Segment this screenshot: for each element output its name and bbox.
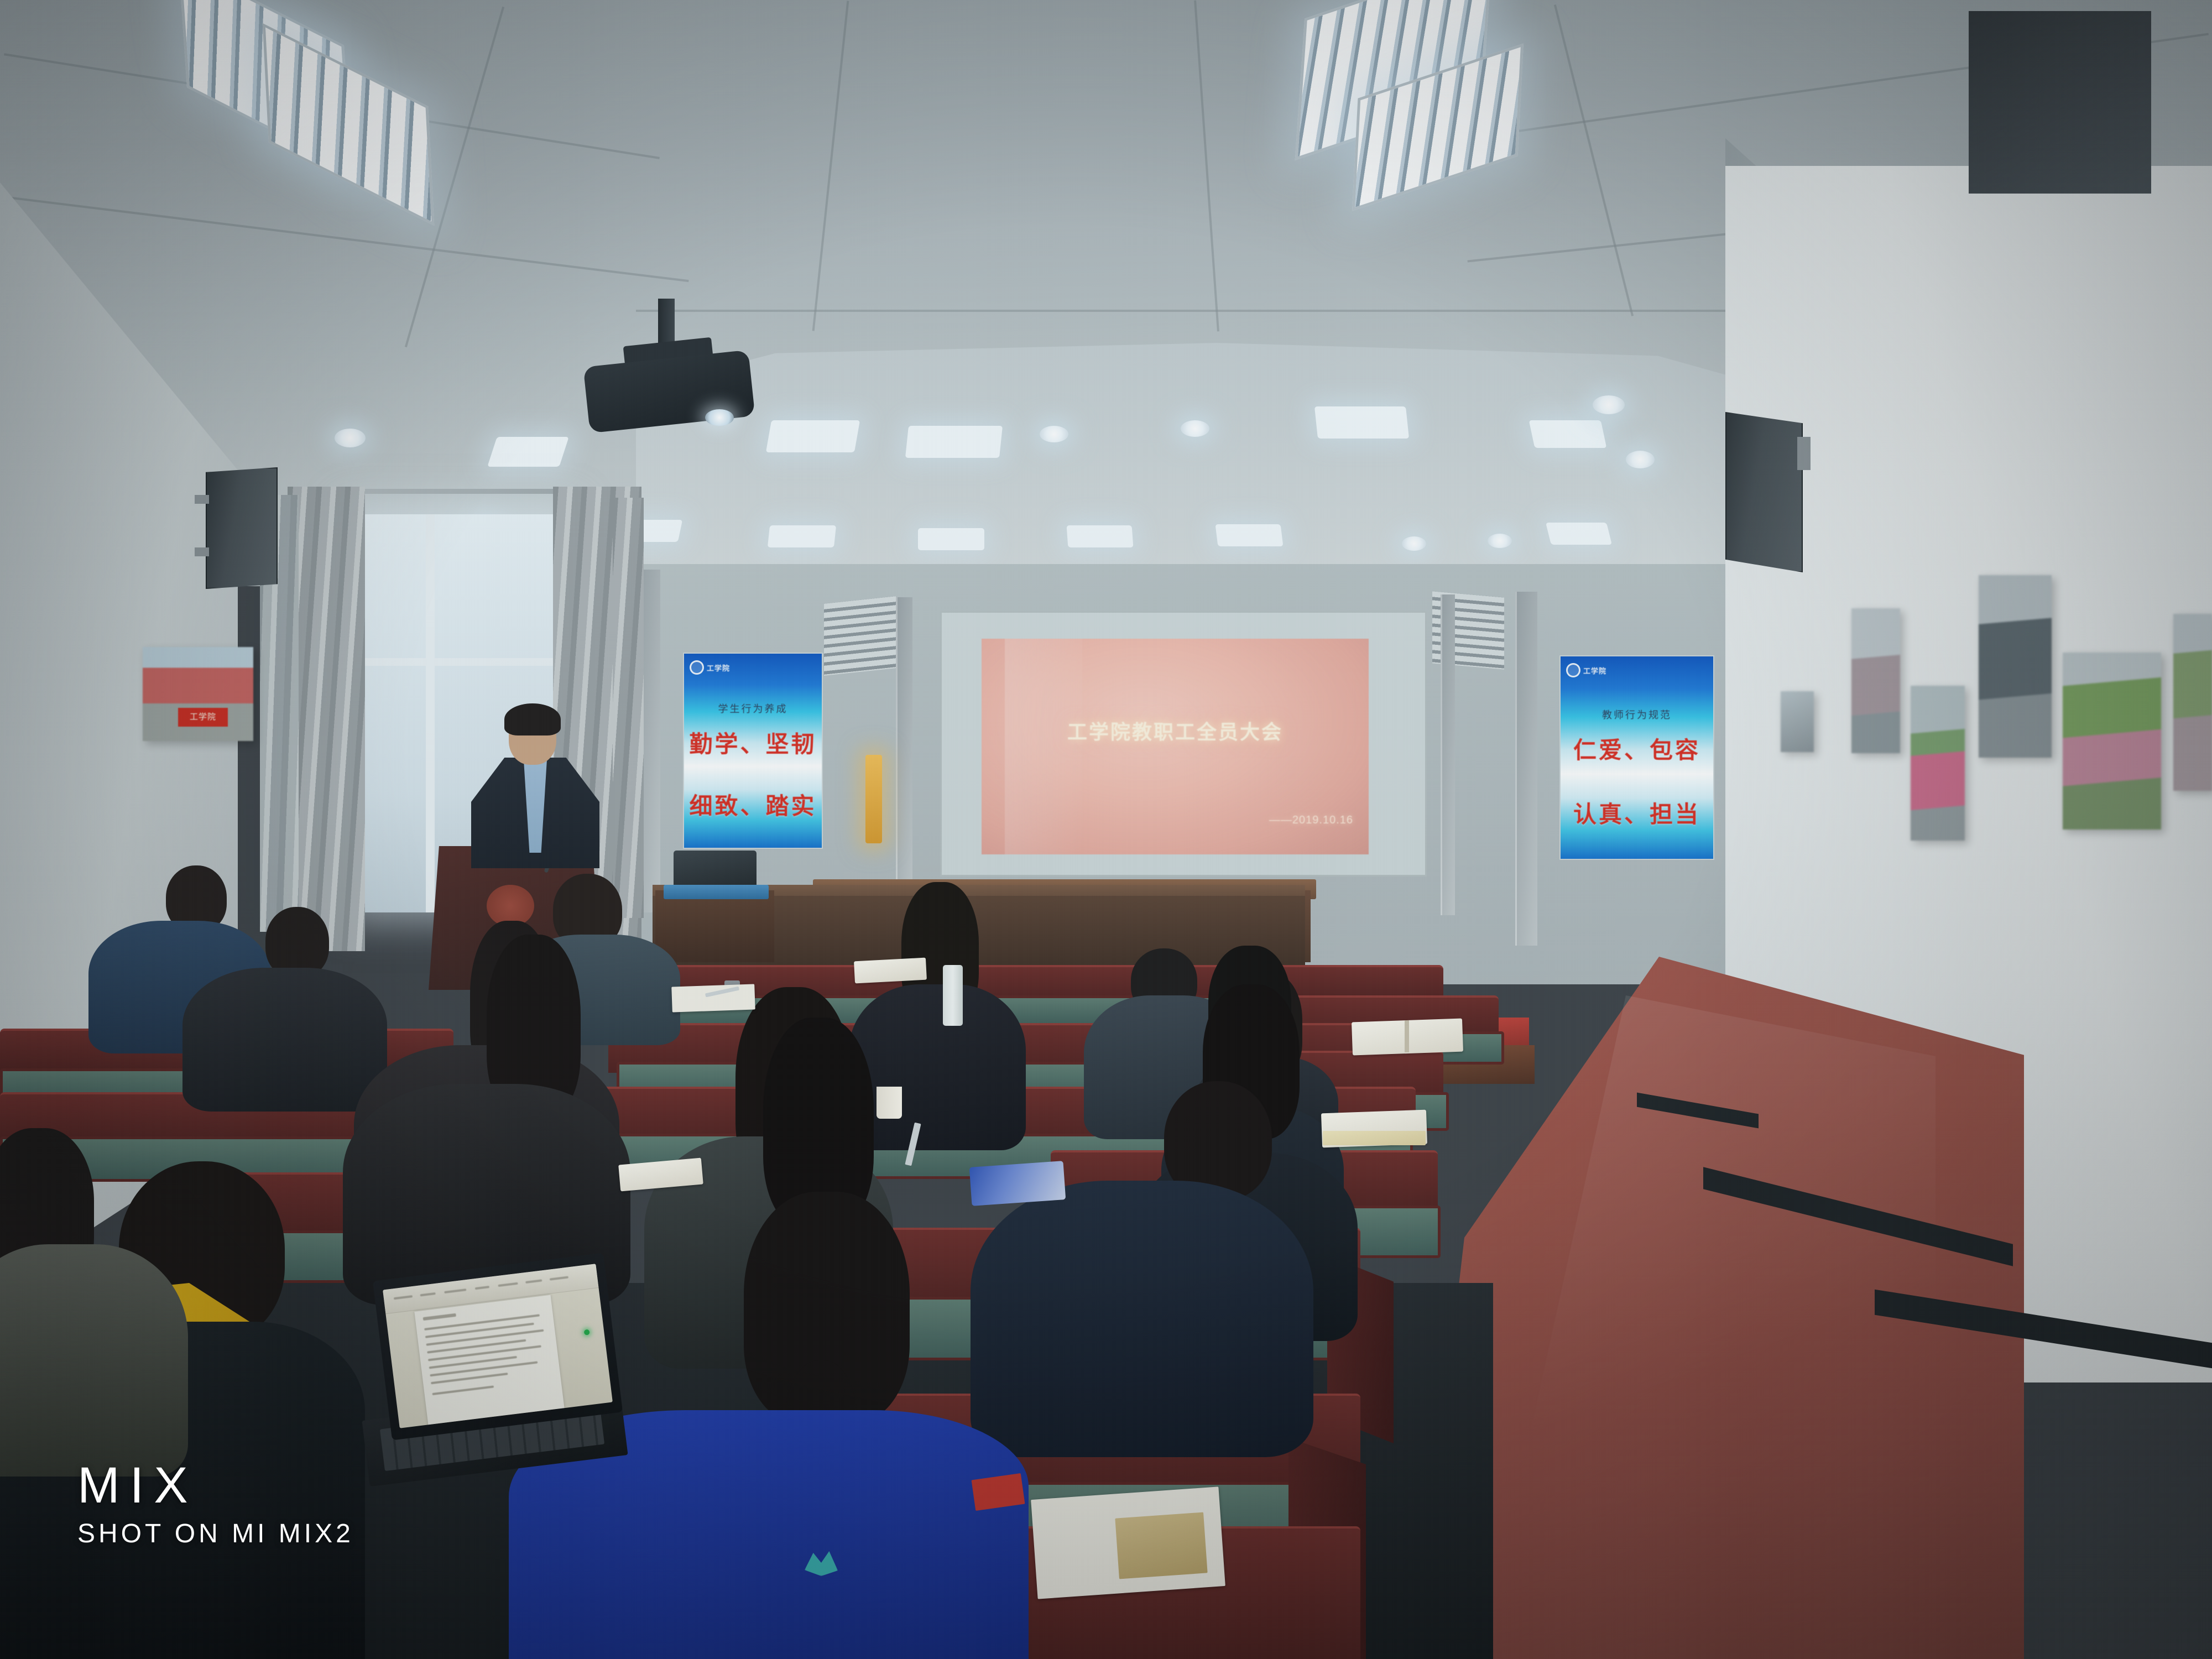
paper-cup (877, 1087, 902, 1119)
wall-speaker-right (1725, 412, 1803, 572)
banner-student-conduct: 工学院 学生行为养成 勤学、坚韧 细致、踏实 (683, 653, 823, 849)
amber-floor-lamp (865, 755, 882, 843)
wall-speaker-left (206, 467, 278, 589)
curtain-left[interactable] (288, 487, 365, 951)
notebook (854, 958, 927, 984)
window-mullion-horizontal (354, 658, 564, 666)
watermark-brand: MIX (77, 1460, 354, 1511)
banner-logo-left: 工学院 (690, 660, 730, 675)
stage-side-fin-right (1515, 592, 1537, 946)
speaker-bracket (195, 495, 209, 504)
stage-fin-louvers-left (824, 596, 896, 676)
ceiling-light-panel (905, 426, 1003, 458)
ceiling-light-panel (768, 525, 836, 547)
desktop-projector-unit (674, 851, 757, 888)
wall-photo-small (1781, 691, 1814, 752)
projector-base-tray (664, 885, 769, 899)
ceiling-light-panel (1529, 420, 1607, 448)
document-text-line (428, 1345, 541, 1361)
document-page[interactable] (414, 1295, 564, 1425)
window-mullion-vertical (426, 514, 435, 912)
person-head (265, 907, 329, 978)
wall-photo-banner-text: 工学院 (178, 708, 228, 727)
wall-photo-panel-2 (1911, 686, 1965, 841)
stage-column-left (896, 597, 912, 907)
wall-photo-panel-1 (1851, 608, 1900, 753)
av-console-table (655, 890, 774, 962)
camera-watermark: MIX SHOT ON MI MIX2 (77, 1460, 354, 1549)
document-text-line (432, 1385, 494, 1395)
right-wall-recess (1969, 11, 2151, 194)
banner-right-header: 教师行为规范 (1561, 707, 1713, 722)
ceiling-downlight (1402, 536, 1426, 551)
banner-teacher-conduct: 工学院 教师行为规范 仁爱、包容 认真、担当 (1559, 655, 1714, 860)
envelope (1115, 1512, 1207, 1579)
institution-logo-icon (690, 660, 704, 675)
presenter-hair (504, 703, 561, 735)
person-body (0, 1244, 188, 1477)
ceiling-downlight (1626, 451, 1655, 468)
ceiling-light-panel (1215, 524, 1284, 546)
person-body (971, 1181, 1313, 1457)
slide-title: 工学院教职工全员大会 (982, 716, 1369, 745)
laptop-screen[interactable] (383, 1264, 613, 1428)
ceiling-downlight (1040, 426, 1068, 442)
lecture-hall-photo: 工学院 工学院教职工全员大会 ——2019.10.16 工学院 学生行为养成 勤… (0, 0, 2212, 1659)
paper-sheet (671, 984, 755, 1012)
banner-right-line2: 认真、担当 (1561, 796, 1713, 830)
ceiling-light-panel (1314, 406, 1409, 439)
ceiling-light-panel (918, 528, 984, 550)
water-bottle (943, 965, 963, 1026)
banner-logo-right: 工学院 (1566, 663, 1606, 677)
ceiling-downlight (1488, 534, 1512, 548)
notebook-cover (1323, 1131, 1426, 1145)
person-body (182, 968, 387, 1112)
notebook-spine (1405, 1020, 1409, 1052)
banner-left-header: 学生行为养成 (684, 701, 822, 716)
document-text-line (430, 1361, 538, 1376)
speaker-bracket (195, 547, 209, 556)
wall-photo-panel-3 (1979, 575, 2052, 758)
ceiling-light-panel (766, 420, 860, 452)
slide-date: ——2019.10.16 (982, 814, 1353, 827)
ceiling-light-panel (1546, 523, 1612, 545)
ceiling-downlight (1181, 420, 1209, 437)
ceiling-downlight (1593, 395, 1625, 414)
stage-column-right (1441, 594, 1455, 915)
status-indicator-green (584, 1329, 590, 1335)
wall-photo-group (143, 647, 253, 741)
banner-logo-text: 工学院 (707, 662, 730, 673)
document-heading (423, 1313, 456, 1321)
speaker-bracket (1797, 437, 1811, 470)
document-text-line (426, 1329, 544, 1346)
ceiling-light-panel (487, 437, 569, 467)
wall-photo-panel-4 (2063, 653, 2161, 830)
wall-photo-panel-5 (2173, 614, 2212, 791)
ceiling-light-panel (1067, 525, 1134, 547)
projector-lens (705, 409, 734, 426)
banner-left-line2: 细致、踏实 (684, 787, 822, 821)
banner-right-line1: 仁爱、包容 (1561, 732, 1713, 765)
document-text-line (425, 1323, 534, 1338)
snack-package (969, 1161, 1066, 1206)
curtain-edge-wall[interactable] (613, 498, 644, 918)
watermark-line: SHOT ON MI MIX2 (77, 1519, 354, 1549)
person-body (849, 984, 1026, 1150)
institution-logo-icon (1566, 663, 1580, 677)
banner-left-line1: 勤学、坚韧 (684, 726, 822, 759)
banner-logo-text: 工学院 (1583, 665, 1606, 676)
aisle-floor-sheen (1493, 995, 1936, 1604)
ceiling-downlight (335, 429, 366, 447)
